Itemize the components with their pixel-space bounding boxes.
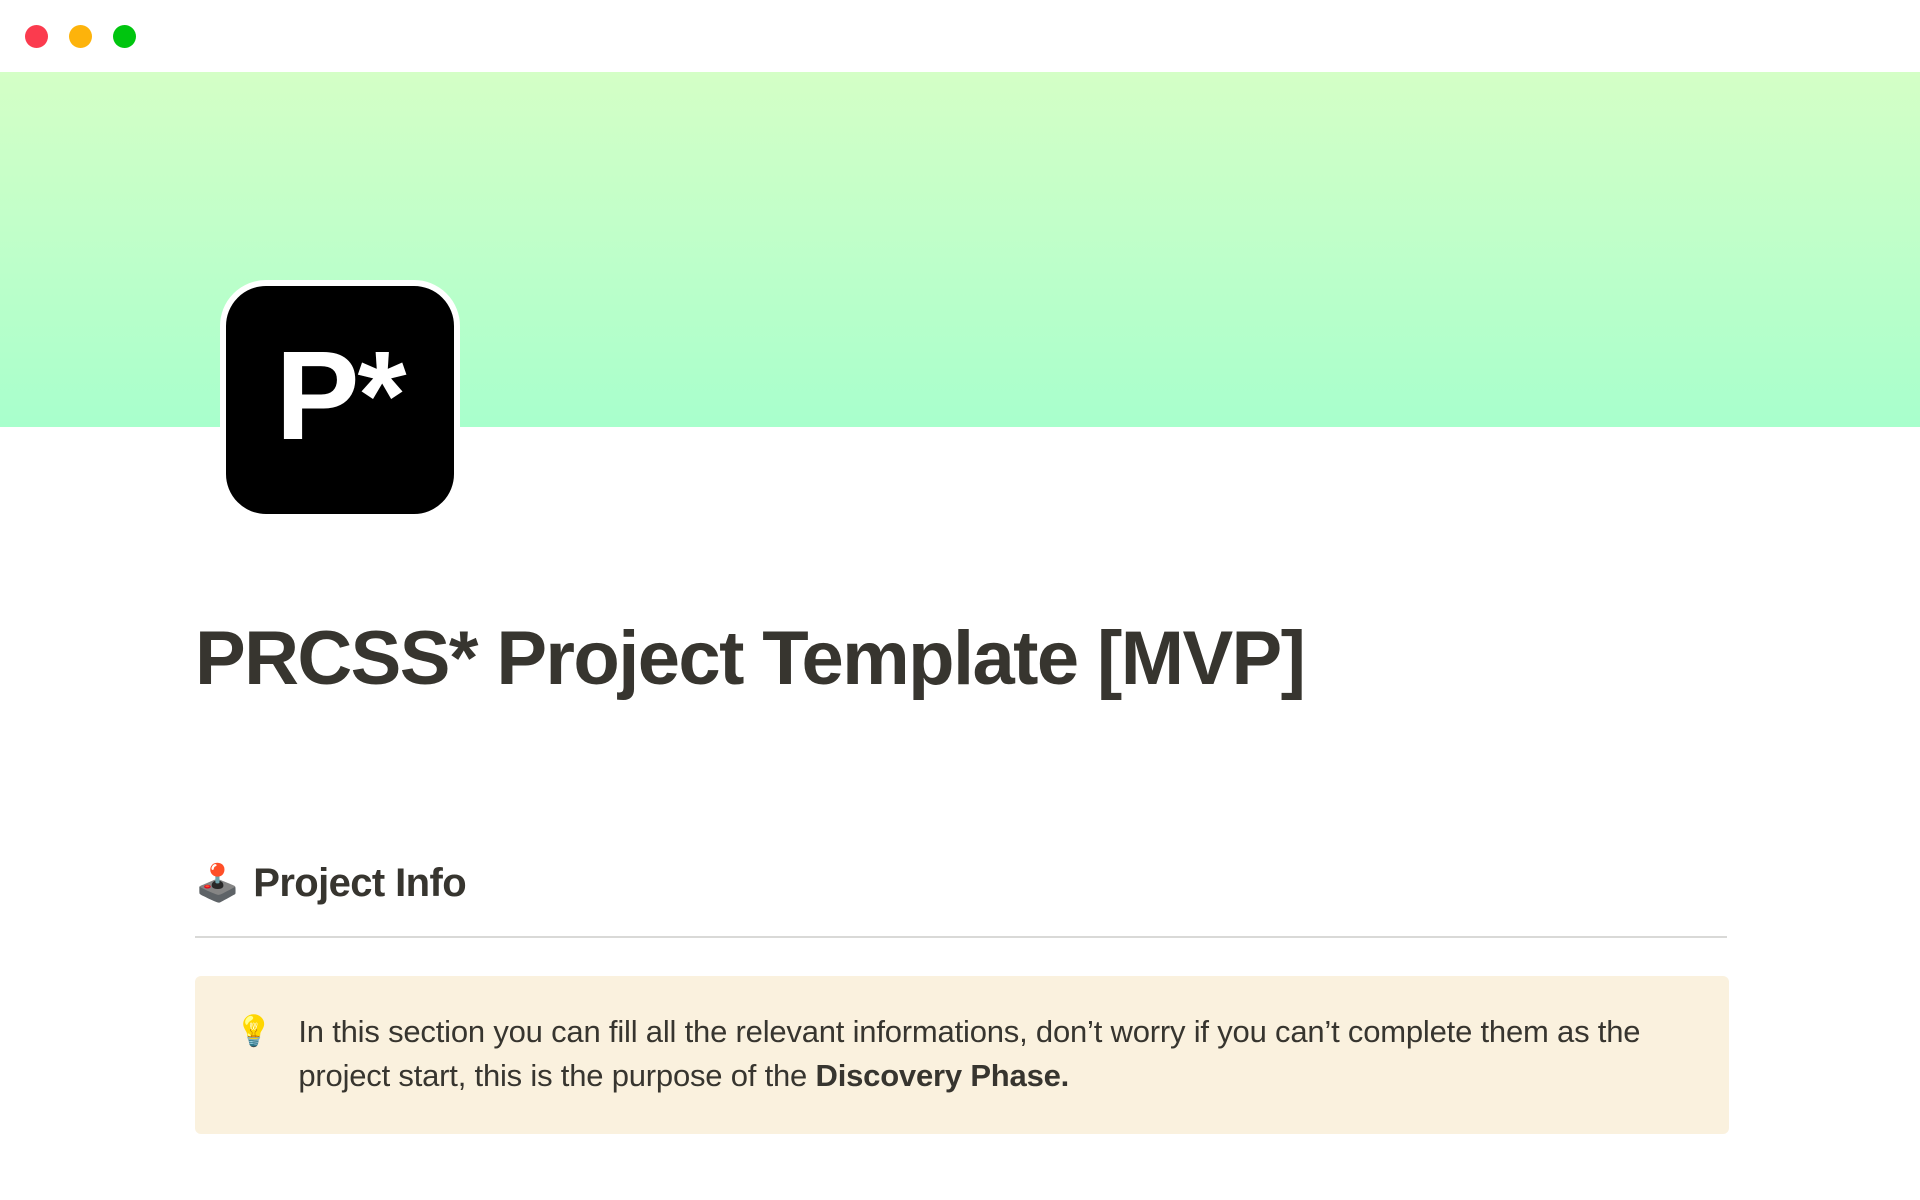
maximize-window-button[interactable]: [113, 25, 136, 48]
callout-text-emphasis: Discovery Phase.: [816, 1058, 1070, 1093]
page-icon-label: P*: [275, 333, 404, 459]
section-heading-label: Project Info: [253, 861, 466, 906]
page-icon[interactable]: P*: [220, 280, 460, 520]
section-heading-project-info[interactable]: 🕹️ Project Info: [195, 861, 1727, 906]
window-controls: [25, 25, 136, 48]
minimize-window-button[interactable]: [69, 25, 92, 48]
page-body: P* PRCSS* Project Template [MVP] 🕹️ Proj…: [0, 72, 1920, 1200]
page-title[interactable]: PRCSS* Project Template [MVP]: [195, 617, 1727, 701]
page-content: PRCSS* Project Template [MVP] 🕹️ Project…: [0, 72, 1920, 1134]
callout-block[interactable]: 💡 In this section you can fill all the r…: [195, 976, 1729, 1134]
section-divider: [195, 936, 1727, 938]
light-bulb-emoji: 💡: [235, 1010, 272, 1054]
close-window-button[interactable]: [25, 25, 48, 48]
window-titlebar: [0, 0, 1920, 72]
joystick-emoji: 🕹️: [195, 865, 239, 901]
callout-text: In this section you can fill all the rel…: [298, 1010, 1688, 1098]
app-window: P* PRCSS* Project Template [MVP] 🕹️ Proj…: [0, 0, 1920, 1200]
